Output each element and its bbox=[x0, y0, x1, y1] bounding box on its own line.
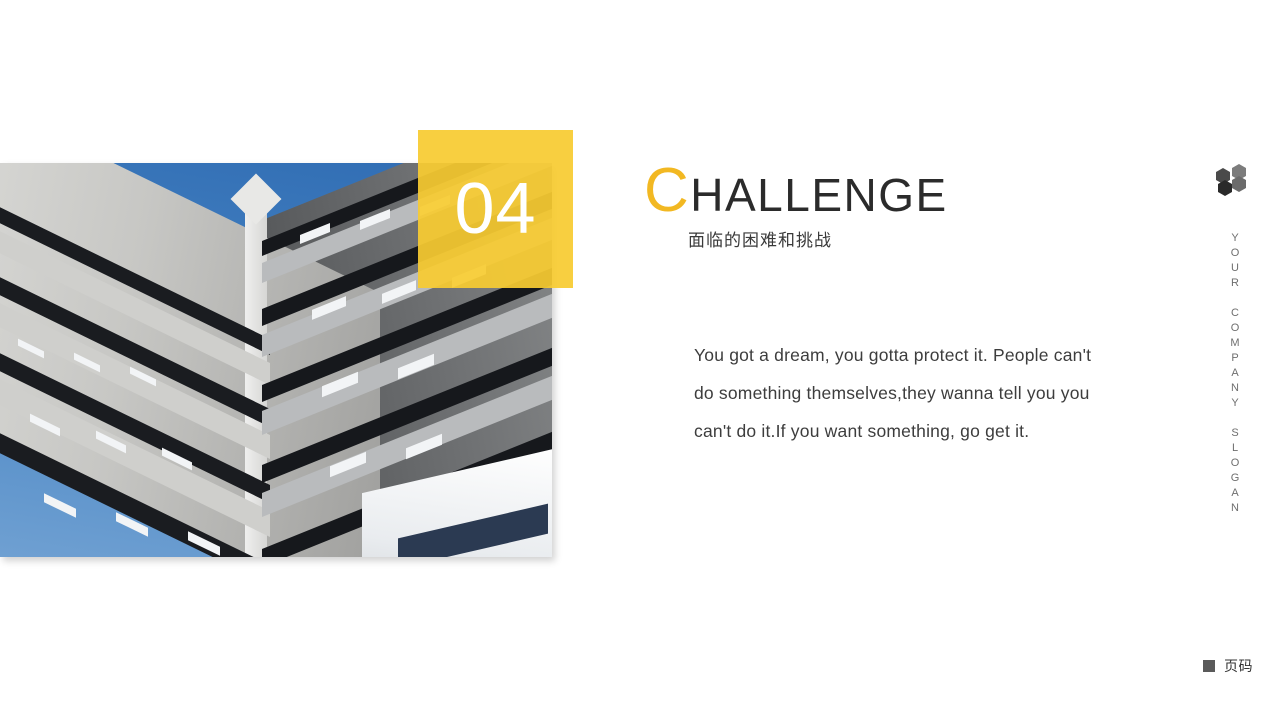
window-glint bbox=[44, 493, 76, 518]
hexagon-cluster-icon bbox=[1212, 163, 1254, 205]
company-slogan-vertical: YOUR COMPANY SLOGAN bbox=[1222, 232, 1248, 517]
page-title: CHALLENGE bbox=[644, 160, 948, 222]
section-number: 04 bbox=[454, 173, 536, 245]
square-marker-icon bbox=[1203, 660, 1215, 672]
slide-canvas: 04 CHALLENGE 面临的困难和挑战 You got a dream, y… bbox=[0, 0, 1280, 720]
body-paragraph: You got a dream, you gotta protect it. P… bbox=[694, 336, 1094, 450]
page-title-initial: C bbox=[644, 156, 690, 225]
page-subtitle: 面临的困难和挑战 bbox=[688, 226, 832, 251]
section-number-badge: 04 bbox=[418, 130, 573, 288]
footer-page-label: 页码 bbox=[1224, 656, 1253, 676]
footer-page-number: 页码 bbox=[1203, 656, 1253, 676]
page-title-rest: HALLENGE bbox=[690, 169, 947, 221]
